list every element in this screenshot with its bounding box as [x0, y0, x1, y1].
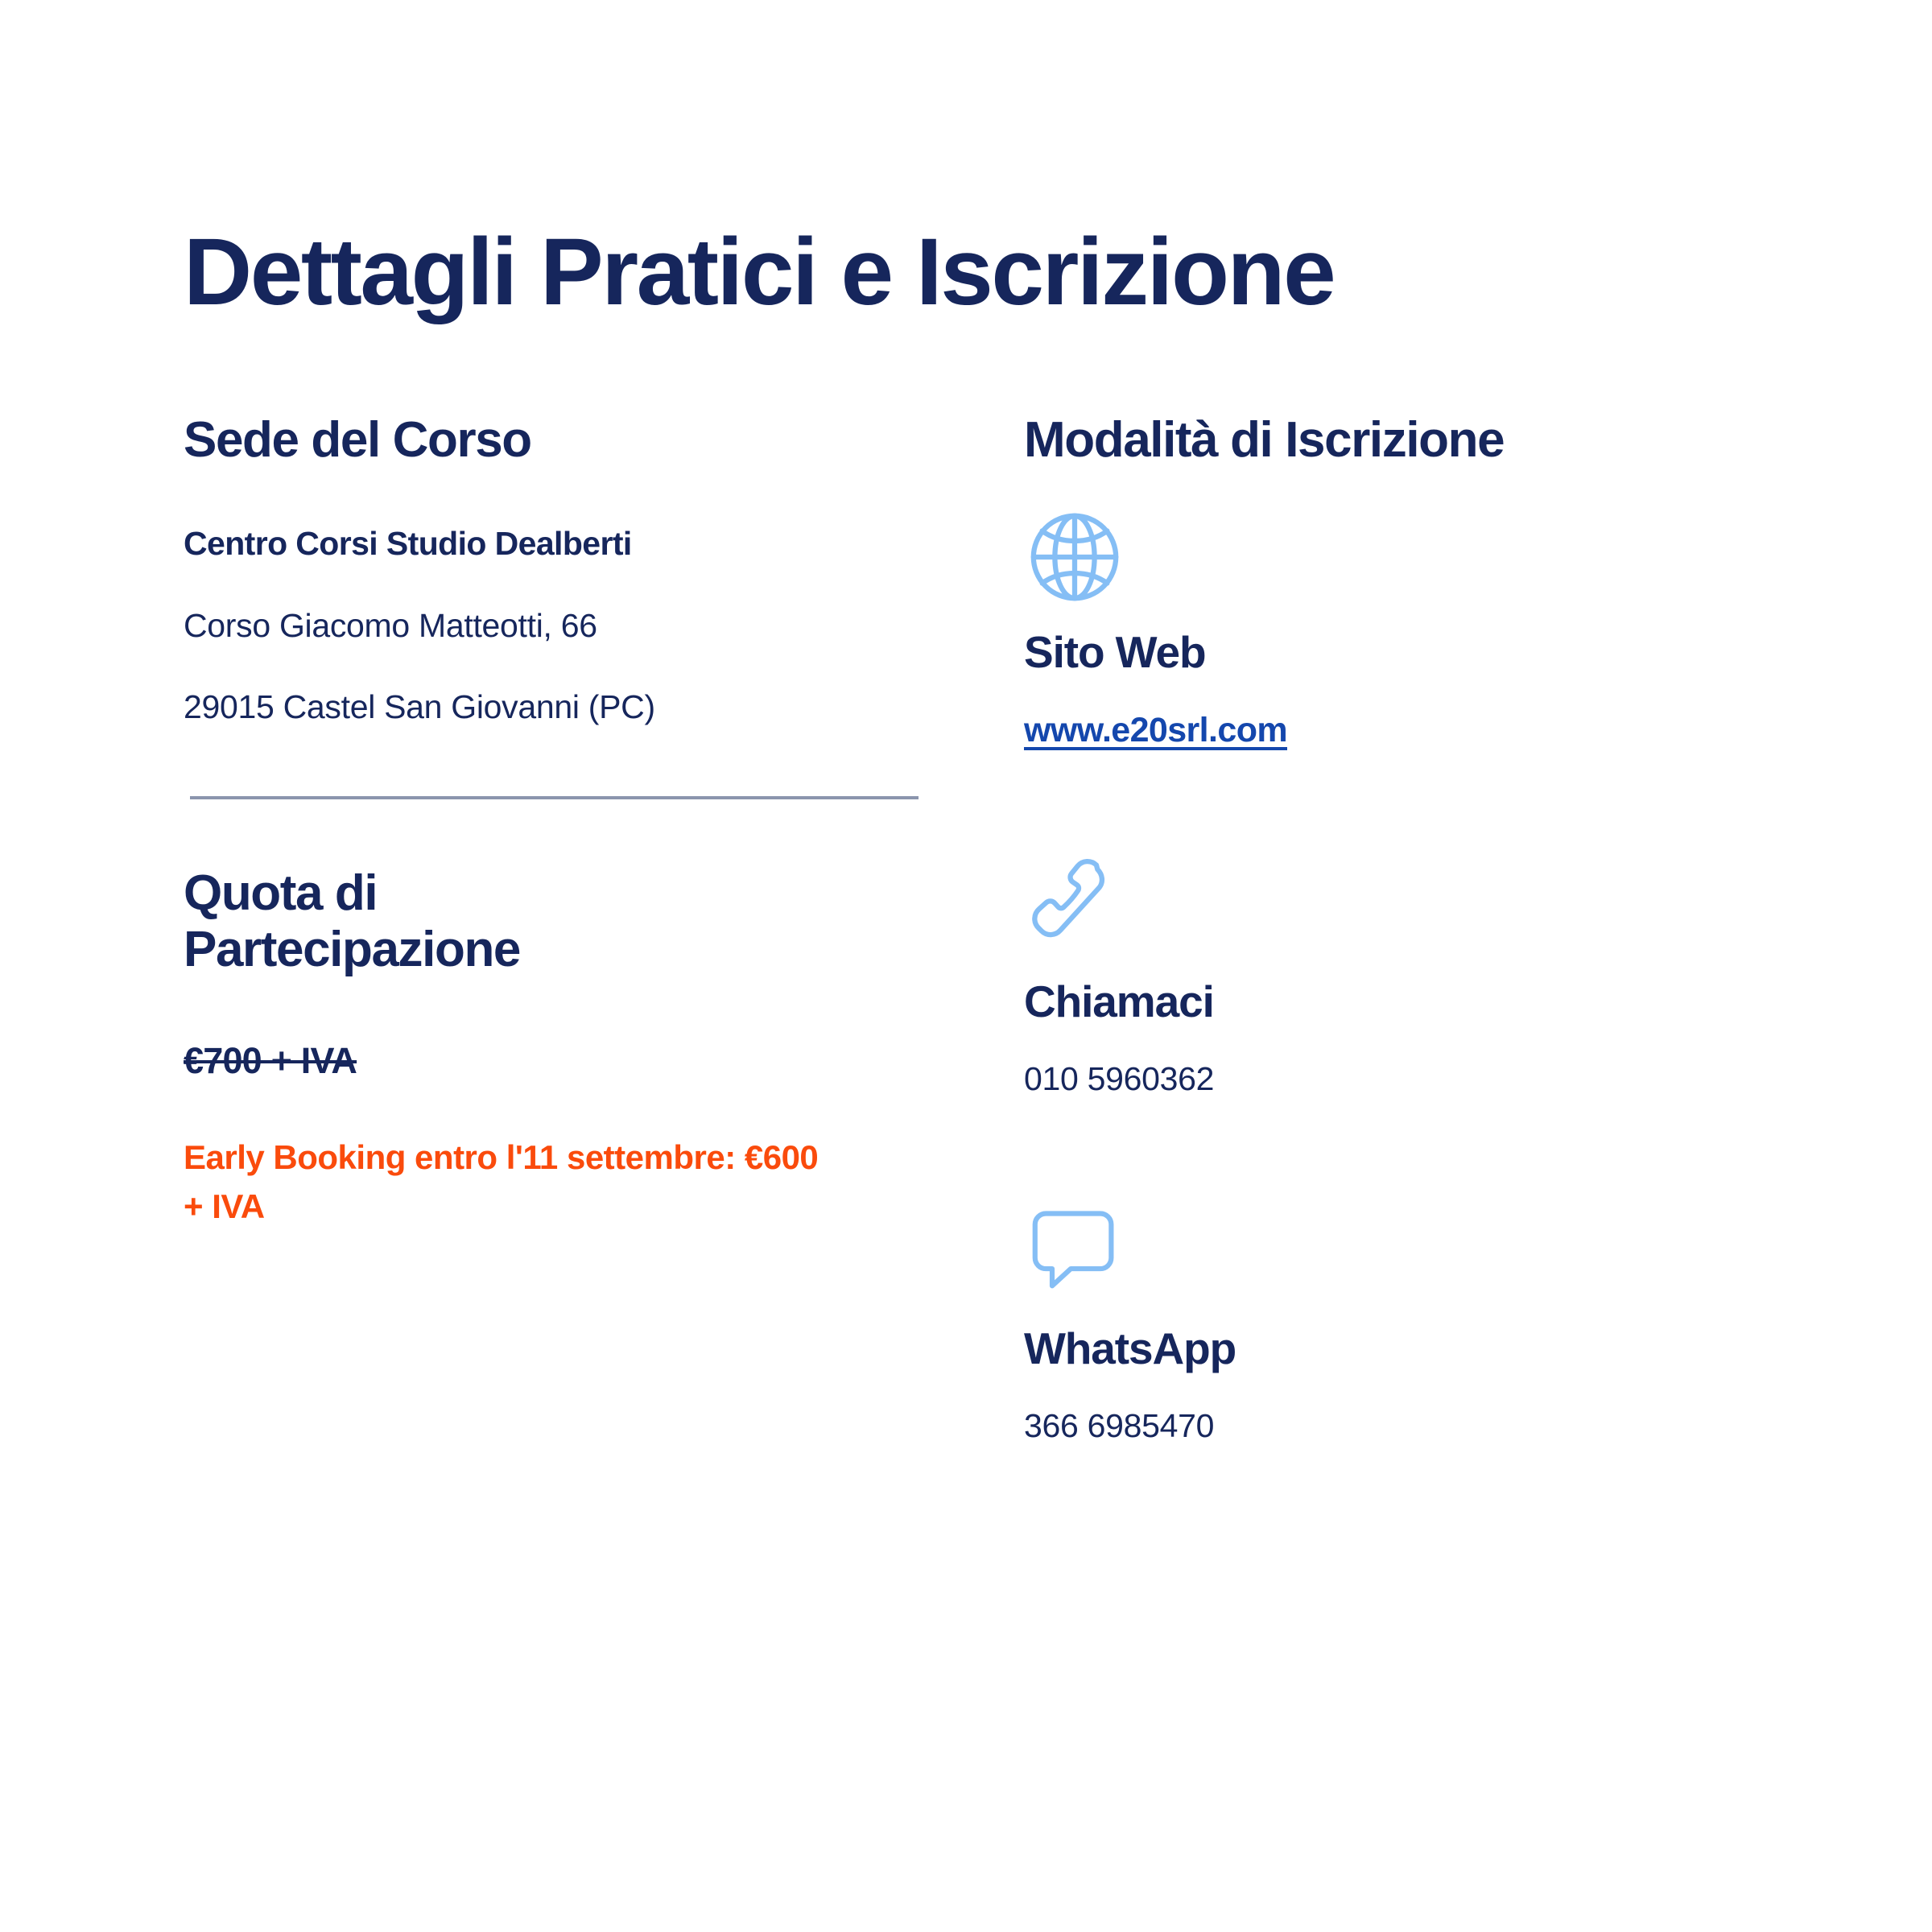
whatsapp-number[interactable]: 366 6985470 — [1024, 1406, 1797, 1447]
venue-address-line-2: 29015 Castel San Giovanni (PC) — [184, 686, 924, 729]
fee-heading: Quota di Partecipazione — [184, 865, 554, 977]
left-column: Sede del Corso Centro Corsi Studio Dealb… — [184, 412, 924, 1232]
contact-block-website: Sito Web www.e20srl.com — [1024, 506, 1797, 753]
contact-block-whatsapp: WhatsApp 366 6985470 — [1024, 1203, 1797, 1447]
page-title: Dettagli Pratici e Iscrizione — [184, 223, 1334, 323]
venue-name: Centro Corsi Studio Dealberti — [184, 522, 924, 565]
slide-root: Dettagli Pratici e Iscrizione Sede del C… — [0, 0, 1932, 1932]
contact-label-whatsapp: WhatsApp — [1024, 1322, 1797, 1375]
globe-icon — [1024, 506, 1797, 611]
website-link[interactable]: www.e20srl.com — [1024, 709, 1287, 753]
contact-block-phone: Chiamaci 010 5960362 — [1024, 856, 1797, 1100]
chat-bubble-icon — [1024, 1203, 1797, 1307]
contact-label-phone: Chiamaci — [1024, 975, 1797, 1028]
venue-address-line-1: Corso Giacomo Matteotti, 66 — [184, 605, 924, 647]
section-divider — [190, 796, 919, 799]
phone-icon — [1024, 856, 1797, 960]
price-original: €700 + IVA — [184, 1038, 357, 1084]
fee-block: Quota di Partecipazione €700 + IVA Early… — [184, 865, 924, 1232]
venue-heading: Sede del Corso — [184, 412, 924, 468]
price-promo: Early Booking entro l'11 settembre: €600… — [184, 1133, 828, 1232]
enrollment-heading: Modalità di Iscrizione — [1024, 412, 1797, 468]
contact-label-website: Sito Web — [1024, 625, 1797, 679]
right-column: Modalità di Iscrizione Sito Web www.e20s… — [1024, 412, 1797, 1447]
phone-number[interactable]: 010 5960362 — [1024, 1059, 1797, 1100]
